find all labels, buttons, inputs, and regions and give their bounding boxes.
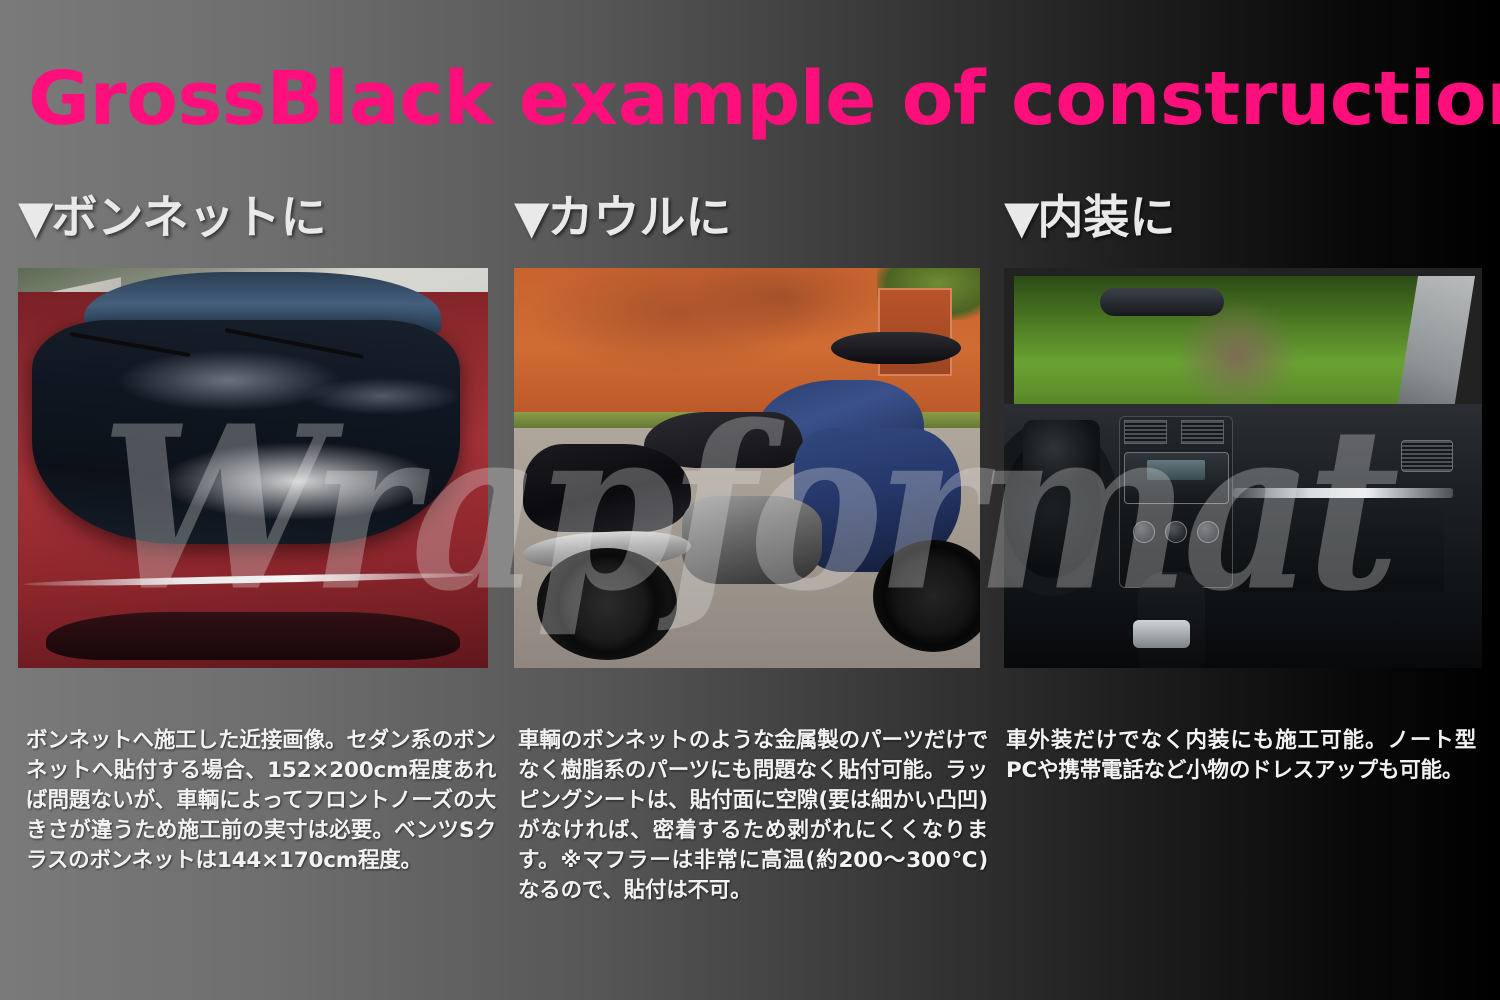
- section-bonnet: ▼ボンネットに: [18, 190, 488, 668]
- section-heading-interior-label: 内装に: [1037, 190, 1175, 244]
- triangle-down-icon: ▼: [1004, 190, 1037, 244]
- poster-canvas: GrossBlack example of construction ▼ボンネッ…: [0, 0, 1500, 1000]
- page-title-text: GrossBlack example of construction: [28, 59, 1500, 139]
- photo-interior-art: [1004, 268, 1482, 668]
- section-heading-interior: ▼内装に: [1004, 190, 1482, 252]
- photo-cowl-art: [514, 268, 980, 668]
- section-interior: ▼内装に: [1004, 190, 1482, 668]
- triangle-down-icon: ▼: [18, 190, 51, 244]
- triangle-down-icon: ▼: [514, 190, 547, 244]
- section-cowl: ▼カウルに: [514, 190, 980, 668]
- section-heading-bonnet-label: ボンネットに: [51, 190, 326, 244]
- photo-bonnet-art: [18, 268, 488, 668]
- section-heading-bonnet: ▼ボンネットに: [18, 190, 488, 252]
- section-heading-cowl: ▼カウルに: [514, 190, 980, 252]
- body-text-interior: 車外装だけでなく内装にも施工可能。ノート型PCや携帯電話など小物のドレスアップも…: [1006, 726, 1476, 786]
- photo-cowl: [514, 268, 980, 668]
- body-text-cowl: 車輌のボンネットのような金属製のパーツだけでなく樹脂系のパーツにも問題なく貼付可…: [518, 726, 988, 906]
- body-text-bonnet: ボンネットへ施工した近接画像。セダン系のボンネットへ貼付する場合、152×200…: [26, 726, 496, 876]
- photo-bonnet: [18, 268, 488, 668]
- page-title: GrossBlack example of construction: [28, 58, 1478, 140]
- section-heading-cowl-label: カウルに: [547, 190, 731, 244]
- photo-interior: [1004, 268, 1482, 668]
